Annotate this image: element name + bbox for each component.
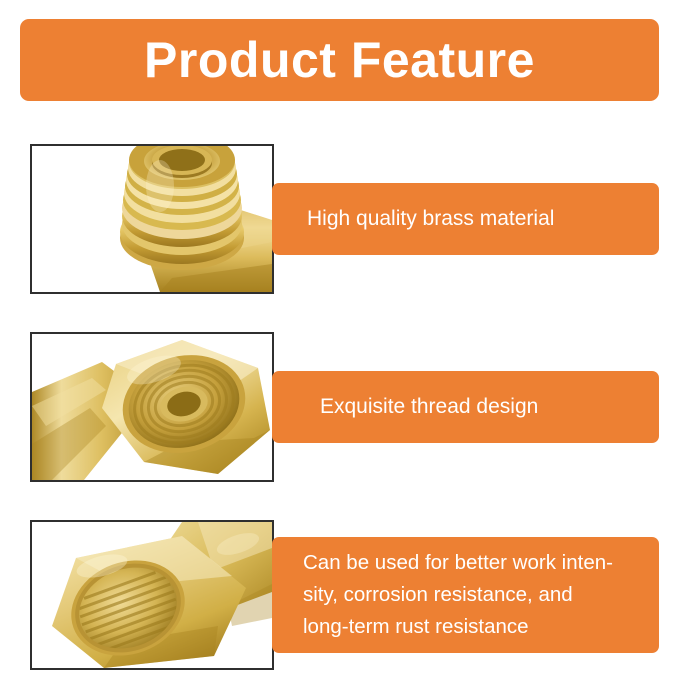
brass-elbow-fitting-illustration — [32, 522, 272, 668]
feature-text-2: Exquisite thread design — [320, 392, 538, 422]
feature-image-frame-3 — [30, 520, 274, 670]
feature-text-3: Can be used for better work inten- sity,… — [303, 547, 613, 642]
feature-text-3-line-3: long-term rust resistance — [303, 615, 529, 638]
product-feature-page: Product Feature — [0, 0, 679, 676]
brass-female-hex-nut-illustration — [32, 334, 272, 480]
feature-image-frame-1 — [30, 144, 274, 294]
feature-text-banner-3: Can be used for better work inten- sity,… — [272, 537, 659, 653]
brass-male-fitting-illustration — [32, 146, 272, 292]
feature-text-3-line-1: Can be used for better work inten- — [303, 551, 613, 574]
feature-text-banner-2: Exquisite thread design — [272, 371, 659, 443]
header-banner: Product Feature — [20, 19, 659, 101]
feature-text-3-line-2: sity, corrosion resistance, and — [303, 583, 573, 606]
feature-image-frame-2 — [30, 332, 274, 482]
feature-text-banner-1: High quality brass material — [272, 183, 659, 255]
page-title: Product Feature — [144, 35, 535, 85]
feature-text-1: High quality brass material — [307, 204, 554, 234]
